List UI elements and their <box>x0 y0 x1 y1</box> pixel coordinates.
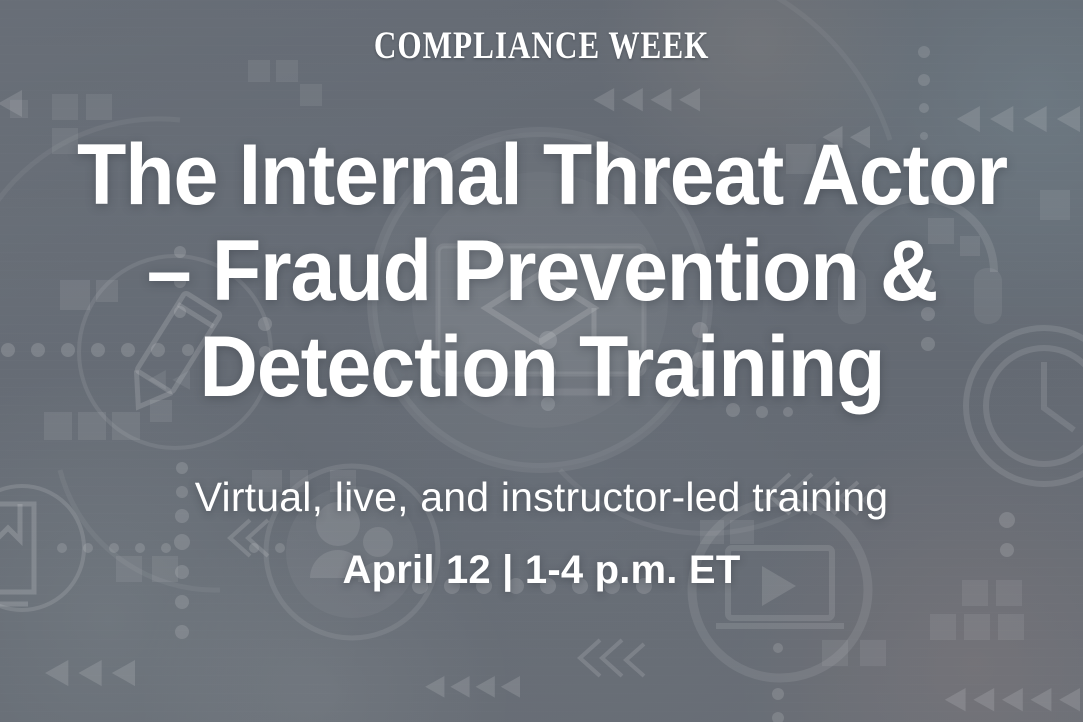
page-title: The Internal Threat Actor – Fraud Preven… <box>43 127 1039 415</box>
title-line-1: The Internal Threat Actor <box>43 127 1039 223</box>
compliance-week-logo: COMPLIANCE WEEK <box>374 26 709 65</box>
title-line-3: Detection Training <box>43 319 1039 415</box>
promo-banner: COMPLIANCE WEEK The Internal Threat Acto… <box>0 0 1083 722</box>
event-subtitle: Virtual, live, and instructor-led traini… <box>195 475 889 520</box>
title-line-2: – Fraud Prevention & <box>43 223 1039 319</box>
event-date-time: April 12 | 1-4 p.m. ET <box>343 548 741 592</box>
banner-content: COMPLIANCE WEEK The Internal Threat Acto… <box>0 0 1083 722</box>
